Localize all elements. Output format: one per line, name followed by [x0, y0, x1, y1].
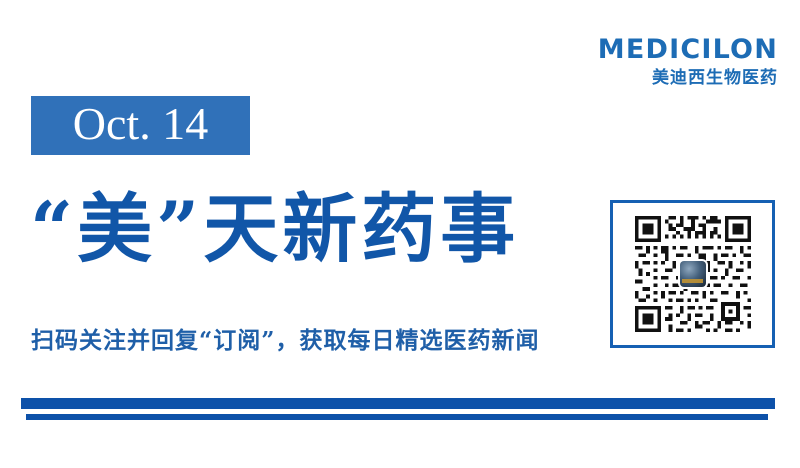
page-title: “美”天新药事	[30, 188, 519, 271]
qr-code-icon[interactable]	[631, 212, 755, 336]
brand-logo: MEDICILON 美迪西生物医药	[598, 36, 778, 87]
poster-canvas: MEDICILON 美迪西生物医药 Oct. 14 “美”天新药事 扫码关注并回…	[0, 0, 800, 468]
brand-name-cn: 美迪西生物医药	[598, 70, 778, 87]
date-badge: Oct. 14	[31, 96, 250, 155]
date-badge-label: Oct. 14	[73, 101, 208, 147]
brand-name-en: MEDICILON	[598, 36, 778, 63]
medicilon-logo-icon	[678, 259, 708, 289]
qr-code-frame[interactable]	[610, 200, 775, 348]
footer-rule-thin	[26, 414, 768, 420]
subtitle-call-to-action: 扫码关注并回复“订阅”，获取每日精选医药新闻	[31, 327, 539, 355]
footer-rule-thick	[21, 398, 775, 409]
